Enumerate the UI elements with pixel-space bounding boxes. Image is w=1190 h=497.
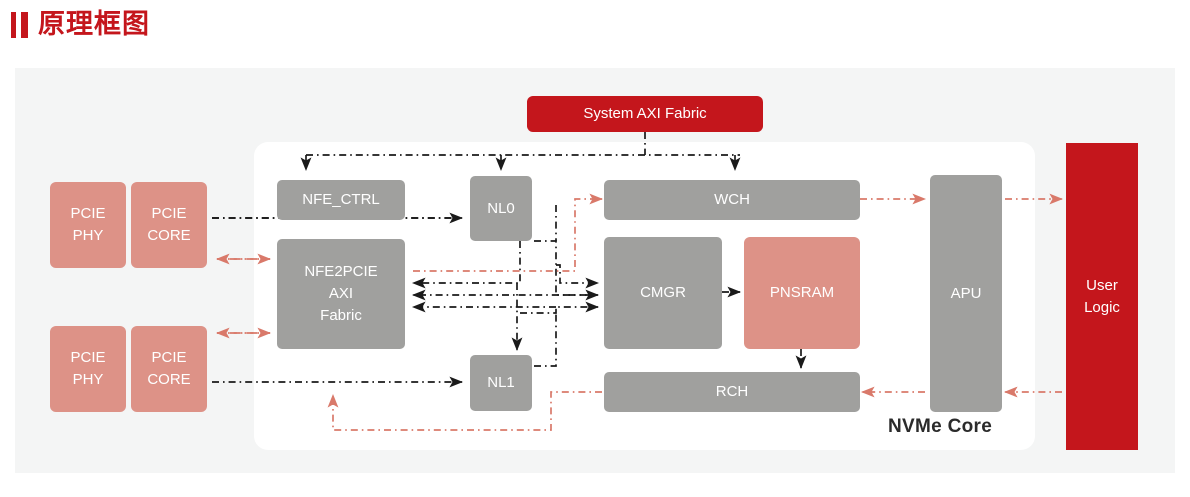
block-nl0[interactable]: NL0: [470, 176, 532, 241]
block-pcie-phy-top[interactable]: PCIE PHY: [50, 182, 126, 268]
block-pcie-core-bottom[interactable]: PCIE CORE: [131, 326, 207, 412]
block-wch[interactable]: WCH: [604, 180, 860, 220]
block-system-axi-fabric[interactable]: System AXI Fabric: [527, 96, 763, 132]
block-pnsram[interactable]: PNSRAM: [744, 237, 860, 349]
block-nfe-ctrl[interactable]: NFE_CTRL: [277, 180, 405, 220]
header-accent-bar-2: [21, 12, 28, 38]
block-pcie-core-top[interactable]: PCIE CORE: [131, 182, 207, 268]
block-cmgr[interactable]: CMGR: [604, 237, 722, 349]
block-pcie-phy-bottom[interactable]: PCIE PHY: [50, 326, 126, 412]
page-root: 原理框图: [0, 0, 1190, 497]
block-apu[interactable]: APU: [930, 175, 1002, 412]
nvme-core-label: NVMe Core: [888, 416, 992, 438]
block-nl1[interactable]: NL1: [470, 355, 532, 411]
block-nfe2pcie-axi-fabric[interactable]: NFE2PCIE AXI Fabric: [277, 239, 405, 349]
block-user-logic[interactable]: User Logic: [1066, 143, 1138, 450]
block-rch[interactable]: RCH: [604, 372, 860, 412]
page-title: 原理框图: [38, 8, 150, 42]
page-header: 原理框图: [0, 0, 1190, 60]
header-accent-bar-1: [11, 12, 16, 38]
